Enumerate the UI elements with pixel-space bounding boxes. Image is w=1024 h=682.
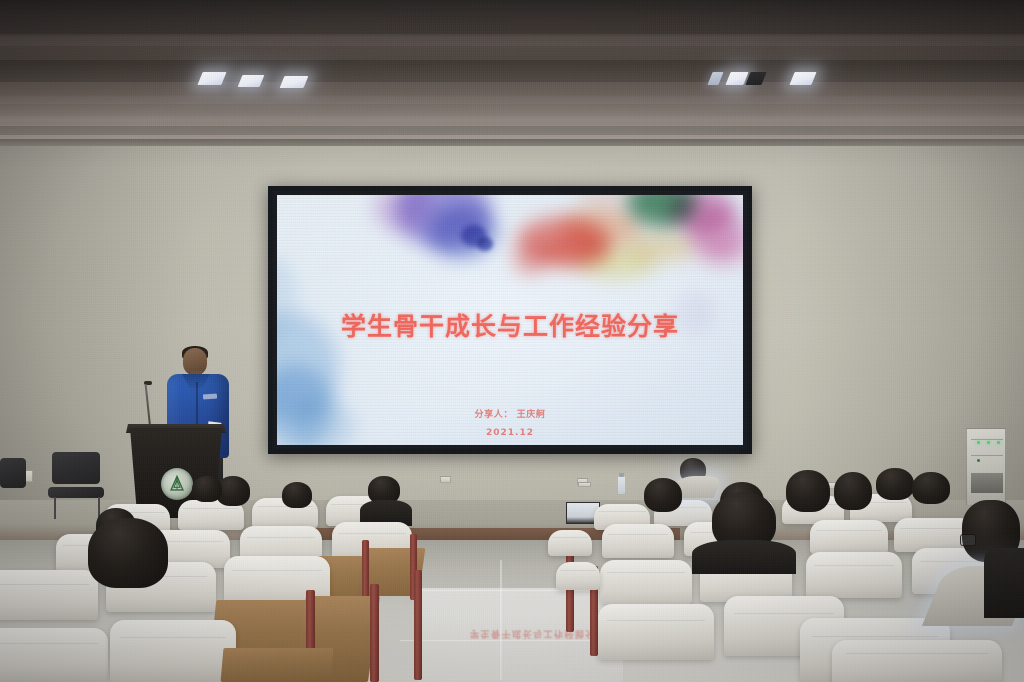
- stage-chair: [52, 452, 100, 484]
- speaker-jacket-logo: [203, 394, 217, 400]
- seat-back-wood: [221, 648, 334, 682]
- floor-reflection-text: 学生骨干成长与工作经验分享: [470, 628, 607, 641]
- seat: [548, 530, 592, 556]
- water-bottle: [618, 476, 625, 494]
- seat: [556, 562, 600, 590]
- seat: [0, 628, 108, 682]
- audience-head: [786, 470, 830, 512]
- slide-presenter: 分享人： 王庆舸: [277, 407, 743, 420]
- seat: [110, 620, 236, 682]
- equipment-cabinet: [966, 428, 1006, 506]
- seat: [806, 552, 902, 598]
- audience-head: [192, 476, 222, 502]
- university-crest-icon: [169, 475, 186, 493]
- status-led: [977, 441, 980, 444]
- audience-head: [912, 472, 950, 504]
- stage-chair: [0, 458, 26, 488]
- cabinet-panel: [971, 473, 1003, 493]
- seat: [0, 570, 98, 620]
- water-bottle-cap: [619, 473, 624, 477]
- seat-post: [370, 584, 379, 682]
- seat: [810, 520, 888, 554]
- seat-post: [414, 570, 422, 680]
- seat: [598, 604, 714, 660]
- audience-head: [834, 472, 872, 510]
- audience-head: [644, 478, 682, 512]
- wall-outlet: [440, 476, 451, 483]
- status-led: [977, 459, 980, 462]
- stage-chair-seat: [48, 487, 104, 498]
- seat: [832, 640, 1002, 682]
- audience-shoulders: [692, 540, 796, 574]
- wall-outlet: [578, 482, 591, 487]
- audience-torso: [984, 548, 1024, 618]
- status-led: [997, 441, 1000, 444]
- audience-head: [88, 518, 168, 588]
- projection-screen-frame: 学生骨干成长与工作经验分享 分享人： 王庆舸 2021.12: [268, 186, 752, 454]
- audience-head: [282, 482, 312, 508]
- projection-screen: 学生骨干成长与工作经验分享 分享人： 王庆舸 2021.12: [277, 195, 743, 445]
- status-led: [987, 441, 990, 444]
- eyeglasses: [960, 534, 976, 546]
- slide-title: 学生骨干成长与工作经验分享: [277, 307, 743, 343]
- slide-date: 2021.12: [277, 428, 743, 438]
- auditorium-photo: 学生骨干成长与工作经验分享 分享人： 王庆舸 2021.12 学生骨干成长与工作…: [0, 0, 1024, 682]
- audience-head: [876, 468, 914, 500]
- seat: [600, 560, 692, 604]
- seat: [602, 524, 674, 558]
- podium-emblem: [161, 468, 193, 500]
- ceiling: [0, 0, 1024, 148]
